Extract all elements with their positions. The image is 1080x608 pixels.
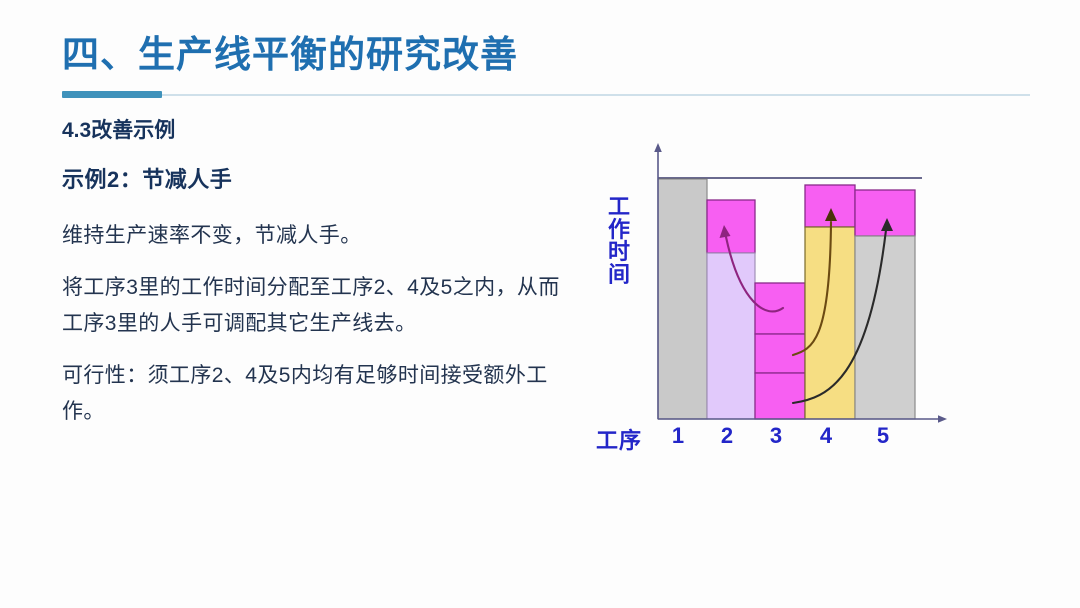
page-title: 四、生产线平衡的研究改善	[62, 34, 1042, 75]
bar-1-existing	[658, 179, 707, 419]
x-tick-4: 4	[811, 423, 841, 449]
example-heading: 示例2：节减人手	[62, 167, 562, 193]
x-axis-ticks: 1 2 3 4 5	[655, 423, 917, 453]
y-axis-label: 工作时间	[604, 196, 634, 287]
paragraph-3: 可行性：须工序2、4及5内均有足够时间接受额外工作。	[62, 358, 562, 430]
title-accent-bar	[62, 91, 162, 98]
slide-root: 四、生产线平衡的研究改善 4.3改善示例 示例2：节减人手 维持生产速率不变，节…	[0, 0, 1080, 608]
paragraph-1: 维持生产速率不变，节减人手。	[62, 218, 562, 254]
bar-5-existing	[855, 236, 915, 419]
bar-2-existing	[707, 253, 755, 419]
page-title-wrap: 四、生产线平衡的研究改善	[62, 34, 1042, 75]
x-tick-3: 3	[761, 423, 791, 449]
y-axis-arrowhead	[654, 143, 662, 152]
bar-3-segment-3	[755, 373, 805, 419]
x-axis-arrowhead	[938, 415, 947, 423]
x-tick-1: 1	[663, 423, 693, 449]
x-tick-5: 5	[868, 423, 898, 449]
x-tick-2: 2	[712, 423, 742, 449]
paragraph-2: 将工序3里的工作时间分配至工序2、4及5之内，从而工序3里的人手可调配其它生产线…	[62, 270, 562, 342]
x-axis-label: 工序	[596, 423, 642, 455]
title-divider	[62, 94, 1030, 96]
text-column: 4.3改善示例 示例2：节减人手 维持生产速率不变，节减人手。 将工序3里的工作…	[62, 118, 562, 446]
bar-2-added	[707, 200, 755, 253]
section-heading: 4.3改善示例	[62, 118, 562, 143]
